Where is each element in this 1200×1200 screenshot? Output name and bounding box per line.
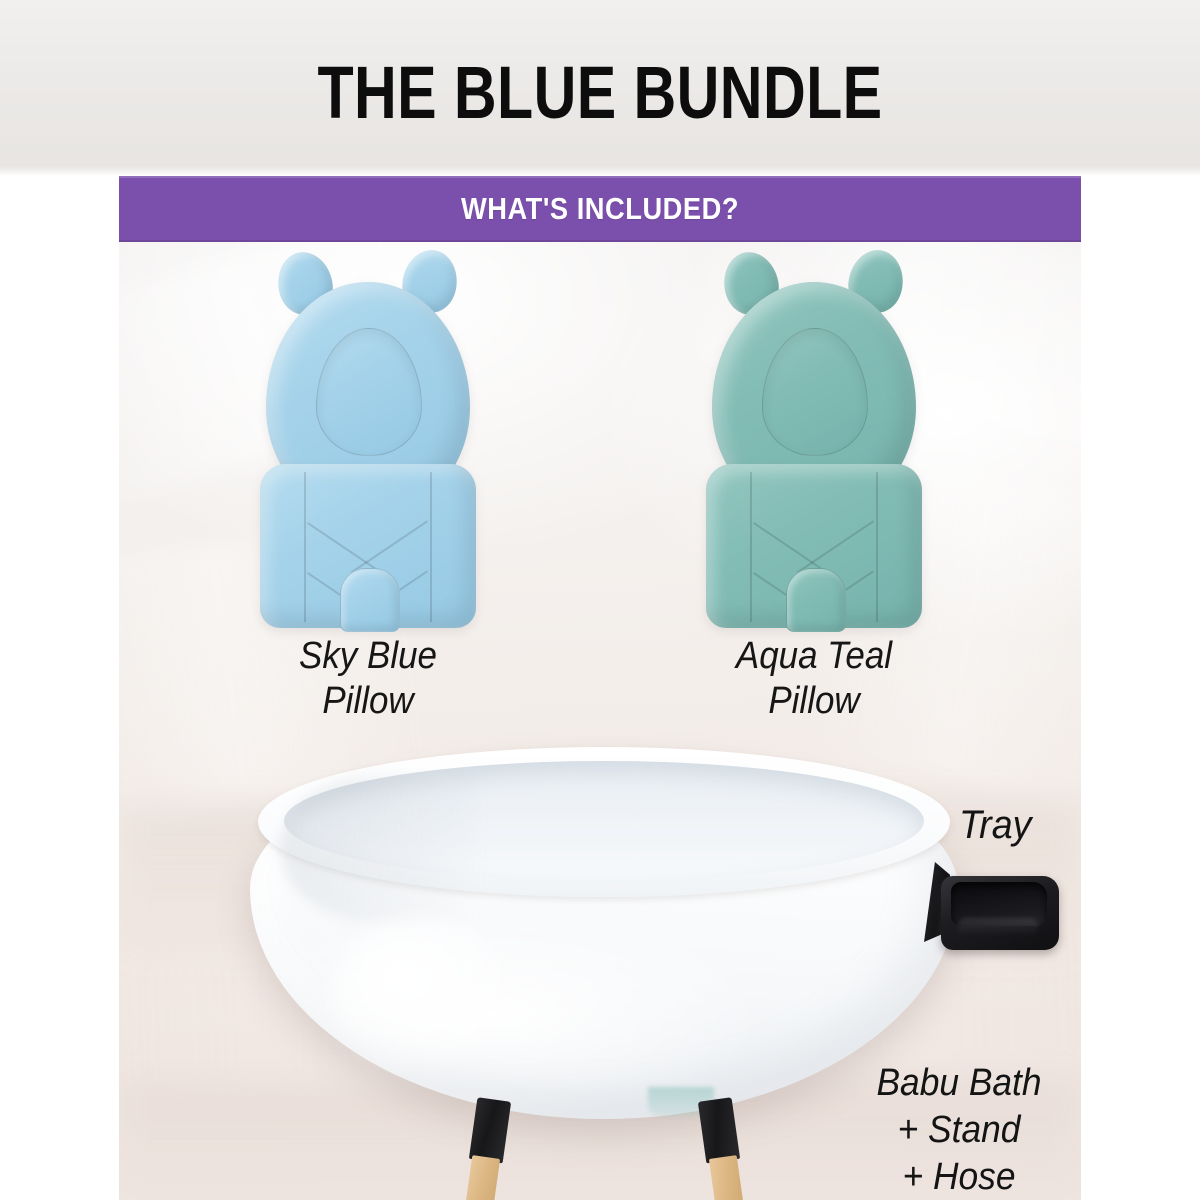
babu-bath-label-line2: + Stand [846, 1107, 1073, 1154]
aqua-teal-pillow-label-line1: Aqua Teal [736, 635, 892, 677]
pillow-seam [750, 472, 752, 622]
whats-included-banner: WHAT'S INCLUDED? [119, 176, 1081, 242]
tray-label: Tray [959, 802, 1081, 848]
banner-label: WHAT'S INCLUDED? [177, 176, 1024, 242]
pillow-crotch-tab [786, 568, 846, 632]
sky-blue-pillow-label: Sky Blue Pillow [221, 634, 515, 724]
aqua-teal-pillow-label: Aqua Teal Pillow [667, 634, 961, 724]
leg-wood-shaft [709, 1155, 745, 1200]
header-band: THE BLUE BUNDLE [0, 0, 1200, 176]
babu-bath-label-line3: + Hose [846, 1154, 1073, 1200]
tub-highlight [330, 917, 510, 1067]
aqua-teal-pillow [706, 250, 922, 628]
tub-lip-shadow [280, 773, 480, 923]
babu-bath-label-line1: Babu Bath [846, 1060, 1073, 1107]
infographic-canvas: THE BLUE BUNDLE WHAT'S INCLUDED? [0, 0, 1200, 1200]
pillow-seam [304, 472, 306, 622]
accessory-tray [924, 862, 1059, 954]
leg-black-cap [698, 1097, 740, 1163]
leg-wood-shaft [464, 1155, 500, 1200]
pillow-seam [430, 472, 432, 622]
sky-blue-pillow-label-line1: Sky Blue [299, 635, 437, 677]
page-title: THE BLUE BUNDLE [120, 56, 1080, 130]
tray-highlight [958, 918, 1038, 936]
babu-bath-label: Babu Bath + Stand + Hose [846, 1060, 1073, 1200]
pillow-seam [876, 472, 878, 622]
sky-blue-pillow-label-line2: Pillow [322, 680, 413, 722]
product-photo-panel: Sky Blue Pillow Aqua Teal Pillow [119, 242, 1081, 1200]
sky-blue-pillow [260, 250, 476, 628]
pillow-crotch-tab [340, 568, 400, 632]
aqua-teal-pillow-label-line2: Pillow [768, 680, 859, 722]
